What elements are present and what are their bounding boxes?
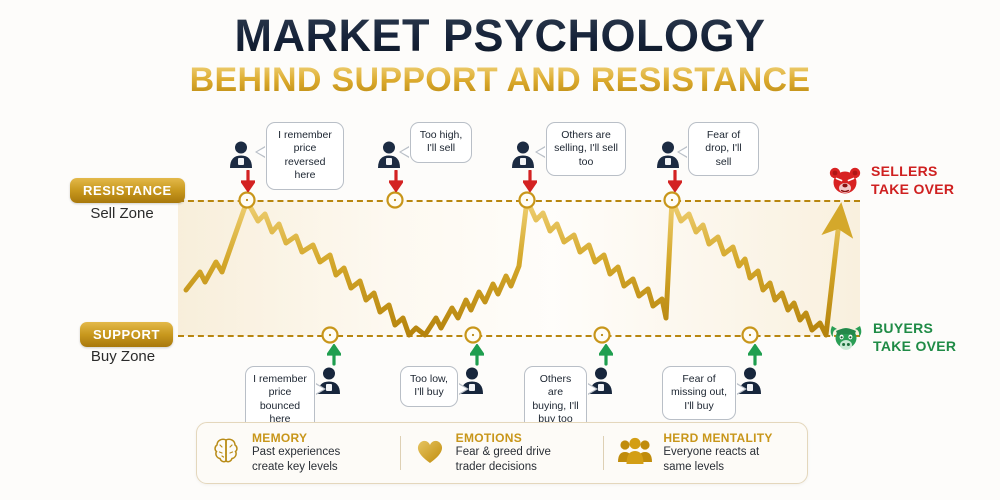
legend-item-line1: Everyone reacts at <box>663 445 772 460</box>
sellers-take-over: SELLERS TAKE OVER <box>828 163 954 198</box>
buyer-bubble-text: Others are buying, I'll buy too <box>532 373 578 425</box>
legend-text: EMOTIONSFear & greed drivetrader decisio… <box>456 431 551 475</box>
support-touch-marker <box>743 328 758 343</box>
resistance-sublabel: Sell Zone <box>57 205 187 222</box>
sellers-label-line2: TAKE OVER <box>871 181 954 199</box>
buyers-take-over: BUYERS TAKE OVER <box>828 320 956 355</box>
legend-icon-wrap <box>415 437 445 470</box>
seller-bubble-text: Too high, I'll sell <box>420 129 463 154</box>
buyers-label-line1: BUYERS <box>873 320 956 338</box>
legend-item-line2: trader decisions <box>456 460 551 475</box>
support-touch-marker <box>323 328 338 343</box>
seller-speech-bubble: Too high, I'll sell <box>410 122 472 163</box>
buyer-speech-bubble: Fear of missing out, I'll buy <box>662 366 736 420</box>
seller-bubble-text: Fear of drop, I'll sell <box>705 129 741 168</box>
legend-item-line2: create key levels <box>252 460 340 475</box>
seller-bubble-text: Others are selling, I'll sell too <box>554 129 618 168</box>
brain-icon <box>211 436 241 466</box>
seller-speech-bubble: Fear of drop, I'll sell <box>688 122 759 176</box>
arrow-up-icon <box>599 344 613 366</box>
sell-pressure-arrow <box>389 170 403 197</box>
support-touch-marker <box>466 328 481 343</box>
legend-item: MEMORYPast experiencescreate key levels <box>197 431 400 475</box>
support-pill: SUPPORT <box>80 322 173 347</box>
arrow-up-icon <box>748 344 762 366</box>
buyer-bubble-text: Fear of missing out, I'll buy <box>671 373 727 412</box>
arrow-up-icon <box>327 344 341 366</box>
seller-speech-bubble: Others are selling, I'll sell too <box>546 122 626 176</box>
legend-item: EMOTIONSFear & greed drivetrader decisio… <box>401 431 604 475</box>
legend-item-title: EMOTIONS <box>456 431 551 445</box>
legend-icon-wrap <box>618 437 652 470</box>
legend-text: HERD MENTALITYEveryone reacts atsame lev… <box>663 431 772 475</box>
sell-pressure-arrow <box>241 170 255 197</box>
arrow-down-icon <box>668 170 682 192</box>
resistance-pill: RESISTANCE <box>70 178 185 203</box>
support-touch-marker <box>595 328 610 343</box>
people-icon <box>618 437 652 465</box>
legend-icon-wrap <box>211 436 241 471</box>
trader-person-icon <box>510 140 536 168</box>
sell-pressure-arrow <box>668 170 682 197</box>
psychology-legend: MEMORYPast experiencescreate key levelsE… <box>196 422 808 484</box>
seller-person <box>228 140 254 173</box>
legend-item-line1: Past experiences <box>252 445 340 460</box>
arrow-down-icon <box>241 170 255 192</box>
sellers-label-line1: SELLERS <box>871 163 954 181</box>
buyer-bubble-text: I remember price bounced here <box>253 373 307 425</box>
heart-icon <box>415 437 445 465</box>
arrow-up-icon <box>470 344 484 366</box>
seller-speech-bubble: I remember price reversed here <box>266 122 344 190</box>
seller-bubble-text: I remember price reversed here <box>278 129 332 181</box>
arrow-down-icon <box>389 170 403 192</box>
legend-text: MEMORYPast experiencescreate key levels <box>252 431 340 475</box>
arrow-down-icon <box>523 170 537 192</box>
infographic-canvas: MARKET PSYCHOLOGY BEHIND SUPPORT AND RES… <box>0 0 1000 500</box>
buyer-speech-bubble: Too low, I'll buy <box>400 366 458 407</box>
legend-item-title: HERD MENTALITY <box>663 431 772 445</box>
trader-person-icon <box>228 140 254 168</box>
legend-item-title: MEMORY <box>252 431 340 445</box>
legend-item: HERD MENTALITYEveryone reacts atsame lev… <box>604 431 807 475</box>
legend-item-line2: same levels <box>663 460 772 475</box>
seller-person <box>510 140 536 173</box>
bear-icon <box>828 165 862 197</box>
price-line-path <box>186 200 839 335</box>
sell-pressure-arrow <box>523 170 537 197</box>
support-sublabel: Buy Zone <box>58 348 188 365</box>
legend-item-line1: Fear & greed drive <box>456 445 551 460</box>
bull-icon <box>828 322 864 354</box>
buyer-bubble-text: Too low, I'll buy <box>410 373 448 398</box>
buyers-label-line2: TAKE OVER <box>873 338 956 356</box>
